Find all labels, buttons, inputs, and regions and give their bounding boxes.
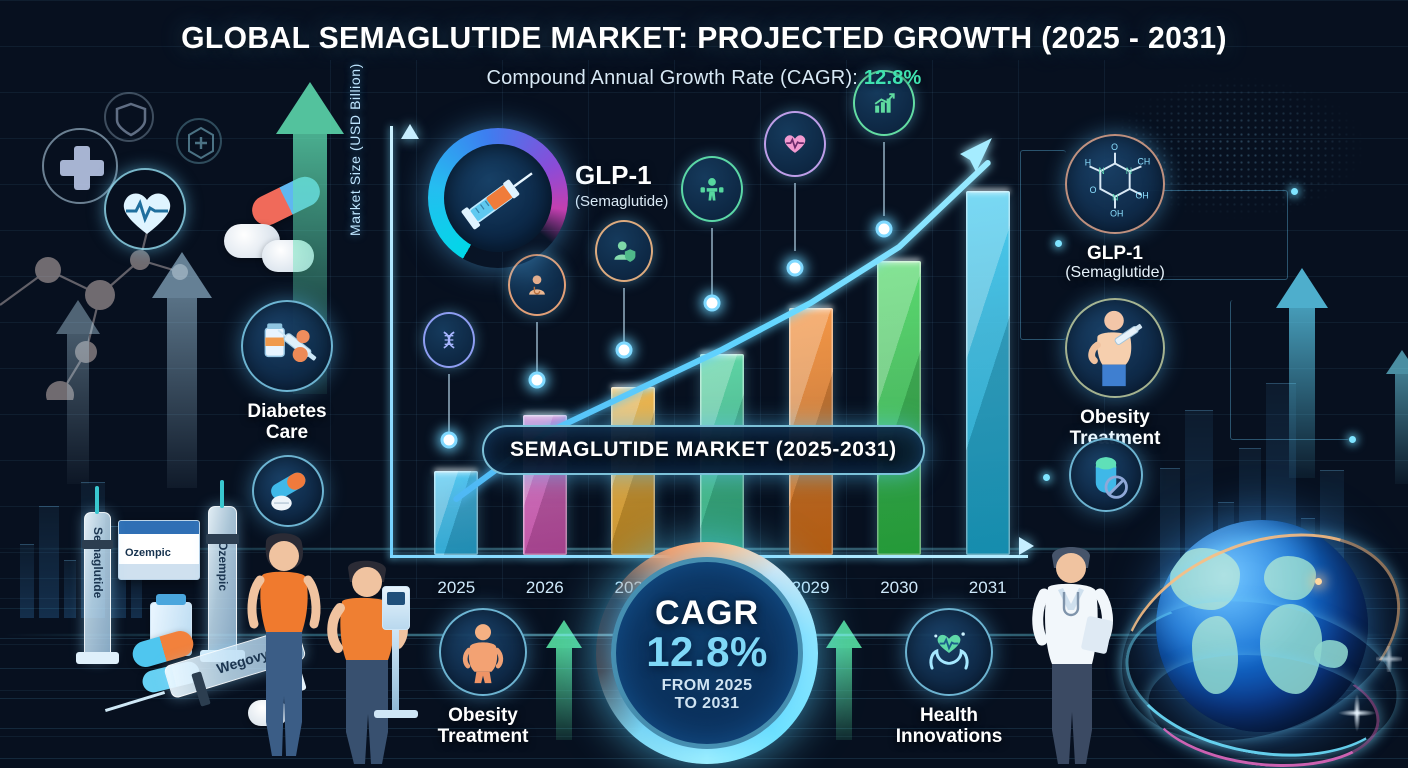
growth-arrow-icon — [56, 300, 100, 484]
x-tick-2030: 2030 — [880, 578, 918, 598]
svg-text:N: N — [1126, 166, 1132, 176]
caption-line1: Diabetes — [232, 401, 342, 422]
bar-highlight — [877, 261, 921, 555]
bar-2030 — [877, 261, 921, 555]
growth-arrow-icon — [1386, 350, 1408, 484]
bar-2031 — [966, 191, 1010, 555]
infographic-canvas: GLOBAL SEMAGLUTIDE MARKET: PROJECTED GRO… — [0, 0, 1408, 768]
subtitle-text: Compound Annual Growth Rate (CAGR): — [486, 67, 863, 89]
obese-body-icon — [439, 608, 527, 696]
svg-text:N: N — [1098, 166, 1104, 176]
shield-icon — [104, 92, 154, 142]
syringe-glyph — [448, 148, 548, 248]
svg-text:OH: OH — [1110, 208, 1123, 218]
caption-line1: Obesity — [424, 705, 542, 726]
caption-line1: Health — [884, 705, 1014, 726]
svg-text:O: O — [1090, 185, 1097, 195]
cagr-label: CAGR — [655, 596, 759, 630]
cagr-badge: CAGR 12.8% FROM 2025 TO 2031 — [596, 542, 818, 764]
circuit-node — [1291, 188, 1298, 195]
chart-annotation: GLP-1 (Semaglutide) — [575, 160, 668, 210]
header: GLOBAL SEMAGLUTIDE MARKET: PROJECTED GRO… — [0, 20, 1408, 90]
page-subtitle: Compound Annual Growth Rate (CAGR): 12.8… — [0, 67, 1408, 90]
info-card-glp1: OHCH OHOHO NNN GLP-1 (Semaglutide) — [1055, 134, 1175, 282]
info-icon-capsule-restricted — [1068, 438, 1144, 512]
heart-pulse-icon — [104, 168, 186, 250]
obese-person-injection-icon — [1065, 298, 1165, 398]
y-axis — [390, 126, 393, 558]
svg-text:OH: OH — [1136, 191, 1149, 201]
capsule-no-entry-icon — [1069, 438, 1143, 512]
info-card-caption: GLP-1 (Semaglutide) — [1055, 243, 1175, 282]
x-tick-2031: 2031 — [969, 578, 1007, 598]
svg-text:O: O — [1111, 142, 1118, 152]
info-icon-capsule-pills — [250, 455, 326, 527]
info-card-caption: Health Innovations — [884, 705, 1014, 748]
cagr-range-line2: TO 2031 — [662, 695, 753, 714]
caption-line2: Treatment — [424, 726, 542, 747]
svg-text:H: H — [1085, 157, 1091, 167]
bar-2025 — [434, 471, 478, 555]
caption-line2: Care — [232, 422, 342, 443]
vial-syringe-icon — [241, 300, 333, 392]
bar-highlight — [966, 191, 1010, 555]
chart-annotation-title: GLP-1 — [575, 160, 668, 191]
bar-highlight — [434, 471, 478, 555]
growth-arrow-icon — [152, 252, 212, 488]
caption-line1: Obesity — [1056, 407, 1174, 428]
page-title: GLOBAL SEMAGLUTIDE MARKET: PROJECTED GRO… — [21, 20, 1387, 56]
growth-arrow-icon — [1276, 268, 1328, 478]
hexagon-plus-icon — [176, 118, 222, 164]
circuit-node — [1043, 474, 1050, 481]
info-card-caption: Diabetes Care — [232, 401, 342, 444]
caption-line2: (Semaglutide) — [1055, 264, 1175, 282]
svg-text:CH: CH — [1137, 156, 1150, 166]
cagr-inline-value: 12.8% — [864, 67, 922, 89]
cagr-value: 12.8% — [646, 630, 768, 674]
chart-annotation-subtitle: (Semaglutide) — [575, 193, 668, 210]
x-tick-2025: 2025 — [437, 578, 475, 598]
circuit-node — [1349, 436, 1356, 443]
info-card-health-innovations: Health Innovations — [884, 608, 1014, 748]
info-card-obesity-right: Obesity Treatment — [1056, 298, 1174, 450]
info-card-obesity-bottom: Obesity Treatment — [424, 608, 542, 748]
chart-title-badge: SEMAGLUTIDE MARKET (2025-2031) — [482, 425, 925, 475]
info-card-caption: Obesity Treatment — [424, 705, 542, 748]
caption-line2: Innovations — [884, 726, 1014, 747]
heart-in-hands-icon — [905, 608, 993, 696]
capsule-pills-icon — [252, 455, 324, 527]
molecule-structure-icon: OHCH OHOHO NNN — [1065, 134, 1165, 234]
caption-line1: GLP-1 — [1055, 243, 1175, 264]
svg-text:N: N — [1112, 193, 1118, 203]
info-card-diabetes-care: Diabetes Care — [232, 300, 342, 444]
x-tick-2026: 2026 — [526, 578, 564, 598]
cagr-range-line1: FROM 2025 — [662, 677, 753, 696]
syringe-icon — [428, 128, 568, 268]
